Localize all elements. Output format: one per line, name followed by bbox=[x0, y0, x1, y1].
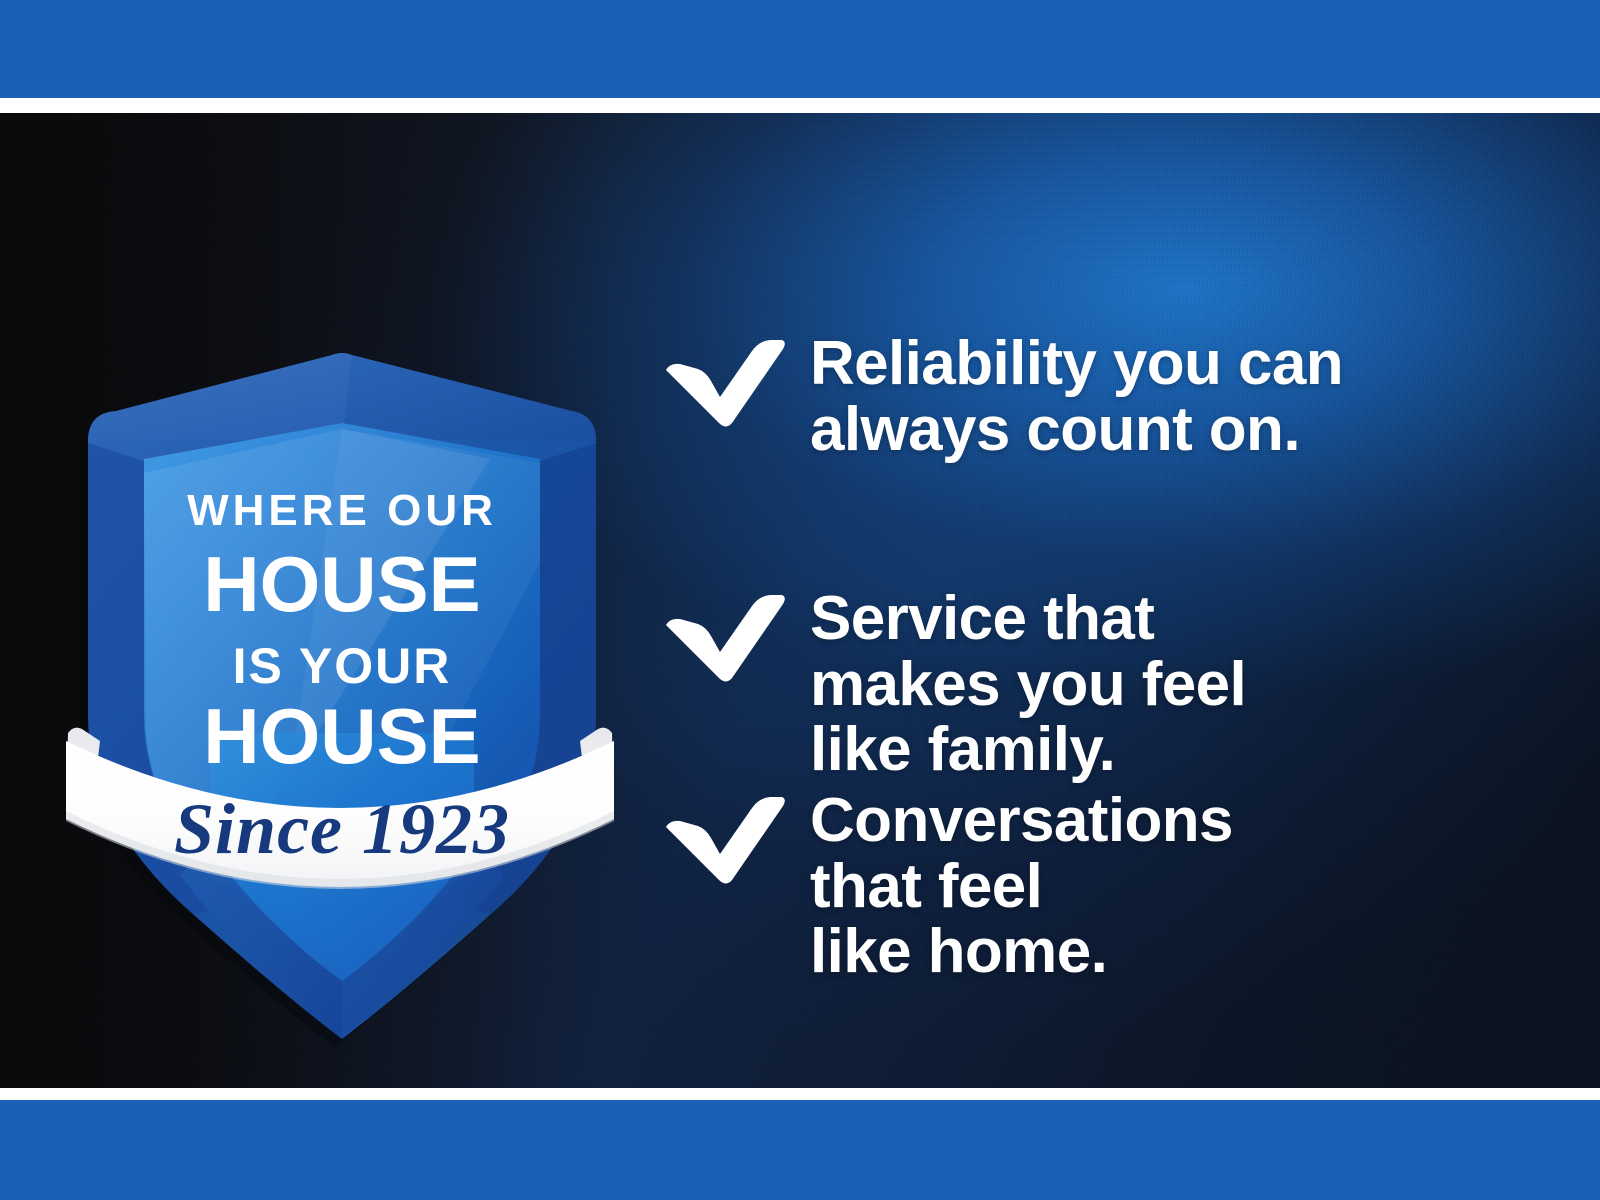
ribbon-text: Since 1923 bbox=[174, 789, 510, 869]
badge-line-house-2: HOUSE bbox=[203, 692, 480, 780]
list-item-text: Conversations that feel like home. bbox=[810, 788, 1233, 985]
top-brand-bar bbox=[0, 0, 1600, 98]
list-item: Service that makes you feel like family. bbox=[660, 586, 1246, 783]
top-white-divider bbox=[0, 98, 1600, 113]
list-item: Conversations that feel like home. bbox=[660, 788, 1233, 985]
main-canvas: WHERE OUR HOUSE IS YOUR HOUSE Since 1923 bbox=[0, 113, 1600, 1088]
badge-line-where: WHERE OUR bbox=[187, 486, 497, 535]
bottom-brand-bar bbox=[0, 1100, 1600, 1200]
shield-badge: WHERE OUR HOUSE IS YOUR HOUSE Since 1923 bbox=[60, 263, 620, 1053]
badge-line-house-1: HOUSE bbox=[203, 540, 480, 628]
list-item: Reliability you can always count on. bbox=[660, 331, 1343, 462]
list-item-text: Service that makes you feel like family. bbox=[810, 586, 1246, 783]
check-icon bbox=[660, 331, 810, 429]
check-icon bbox=[660, 586, 810, 684]
badge-line-is-your: IS YOUR bbox=[233, 638, 452, 694]
check-icon bbox=[660, 788, 810, 886]
value-proposition-list: Reliability you can always count on. Ser… bbox=[660, 226, 1540, 1088]
shield-top-facet-left bbox=[88, 353, 352, 441]
shield-top-facet-right bbox=[342, 355, 596, 441]
list-item-text: Reliability you can always count on. bbox=[810, 331, 1343, 462]
bottom-white-divider bbox=[0, 1088, 1600, 1100]
promotional-graphic: WHERE OUR HOUSE IS YOUR HOUSE Since 1923 bbox=[0, 0, 1600, 1200]
